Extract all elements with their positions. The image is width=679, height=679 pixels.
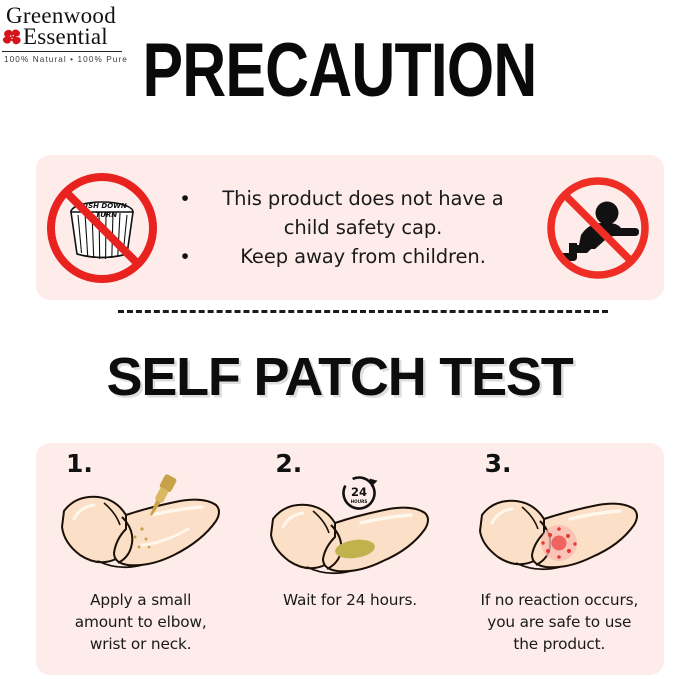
precaution-bullet-item: • This product does not have a child saf… (172, 184, 528, 242)
precaution-heading: PRECAUTION (68, 33, 611, 109)
elbow-with-24-hours-clock-illustration: 24 HOURS (255, 467, 445, 585)
precaution-bullet-text: Keep away from children. (198, 242, 528, 271)
elbow-with-rash-illustration (464, 467, 654, 585)
patch-test-step: 3. (455, 443, 664, 675)
precaution-panel: PUSH DOWN & TURN • This product does not… (36, 155, 664, 300)
patch-test-step: 2. 24 HOURS (245, 443, 454, 675)
step-caption: If no reaction occurs, you are safe to u… (470, 589, 648, 655)
red-flower-icon (2, 27, 22, 47)
no-child-safety-cap-icon: PUSH DOWN & TURN (36, 169, 168, 287)
precaution-bullet-text: This product does not have a child safet… (198, 184, 528, 242)
no-children-icon (532, 173, 664, 283)
clock-value: 24 (351, 485, 367, 499)
patch-test-steps-panel: 1. (36, 443, 664, 675)
precaution-bullet-list: • This product does not have a child saf… (168, 184, 532, 271)
bullet-icon: • (172, 184, 198, 213)
step-caption: Apply a small amount to elbow, wrist or … (65, 589, 217, 655)
clock-unit: HOURS (351, 499, 368, 504)
precaution-bullet-item: • Keep away from children. (172, 242, 528, 271)
patch-test-step: 1. (36, 443, 245, 675)
step-caption: Wait for 24 hours. (273, 589, 427, 611)
self-patch-test-heading: SELF PATCH TEST (0, 350, 679, 404)
bullet-icon: • (172, 242, 198, 271)
section-divider (118, 310, 608, 313)
elbow-with-dropper-illustration (46, 467, 236, 585)
